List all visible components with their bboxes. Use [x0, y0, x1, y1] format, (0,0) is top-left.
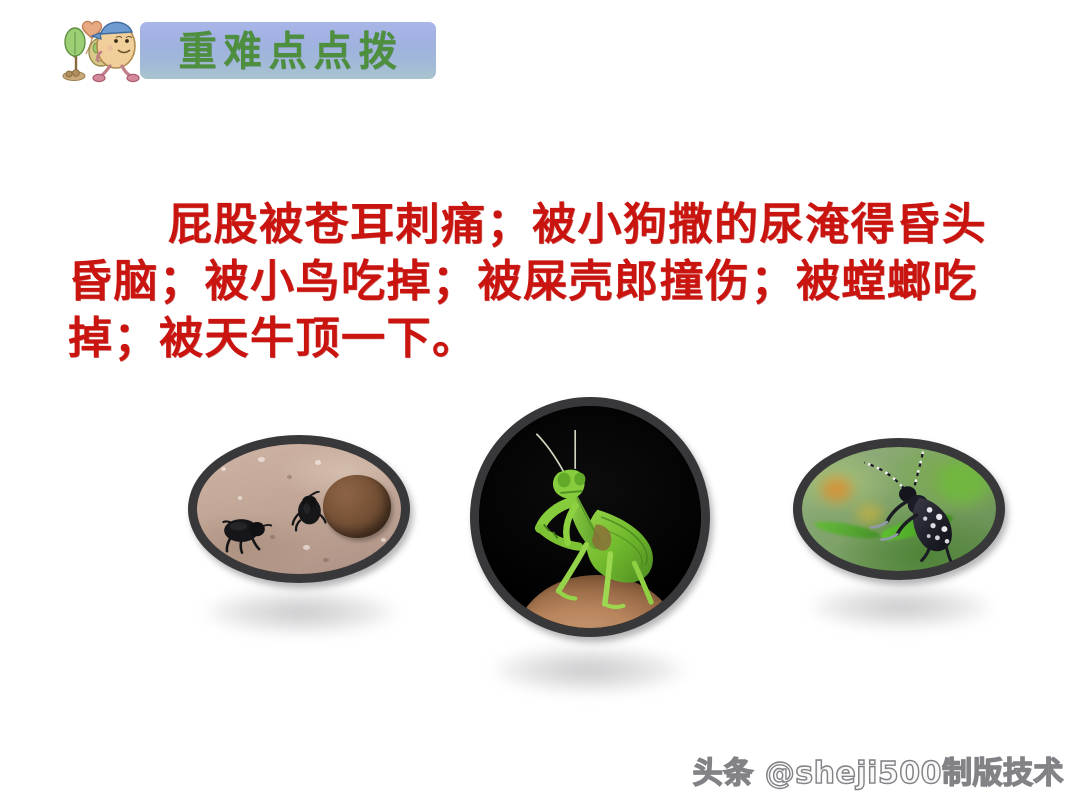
photo-shadow [811, 586, 991, 628]
beetle-pushing [287, 491, 332, 538]
slide-canvas: 重难点点拨 屁股被苍耳刺痛；被小狗撒的尿淹得昏头昏脑；被小鸟吃掉；被屎壳郎撞伤；… [0, 0, 1080, 810]
photo-oval-frame [188, 435, 410, 583]
dung-beetle-scene [197, 444, 401, 574]
longhorn-beetle-scene [802, 447, 996, 571]
watermark-text: 头条 @sheji500制版技术 [693, 748, 1064, 792]
longhorn-beetle-illustration [802, 447, 996, 571]
beetle-walking [217, 512, 274, 556]
photo-shadow [494, 647, 684, 693]
slide-header: 重难点点拨 [0, 0, 1080, 100]
photo-oval-frame [793, 438, 1005, 580]
longhorn-beetle-photo[interactable] [793, 438, 1009, 590]
photo-oval-frame [470, 397, 710, 637]
photo-row [0, 380, 1080, 740]
dung-beetle-photo[interactable] [188, 435, 412, 595]
praying-mantis-scene [479, 406, 701, 628]
praying-mantis-photo[interactable] [470, 397, 714, 657]
photo-shadow [206, 590, 396, 634]
section-title-text: 重难点点拨 [172, 30, 403, 70]
section-title-banner: 重难点点拨 [140, 22, 436, 79]
walking-egg-character-icon [54, 8, 150, 90]
mantis-illustration [479, 406, 701, 628]
lesson-paragraph: 屁股被苍耳刺痛；被小狗撒的尿淹得昏头昏脑；被小鸟吃掉；被屎壳郎撞伤；被螳螂吃掉；… [68, 196, 1020, 367]
dung-ball [323, 475, 390, 537]
